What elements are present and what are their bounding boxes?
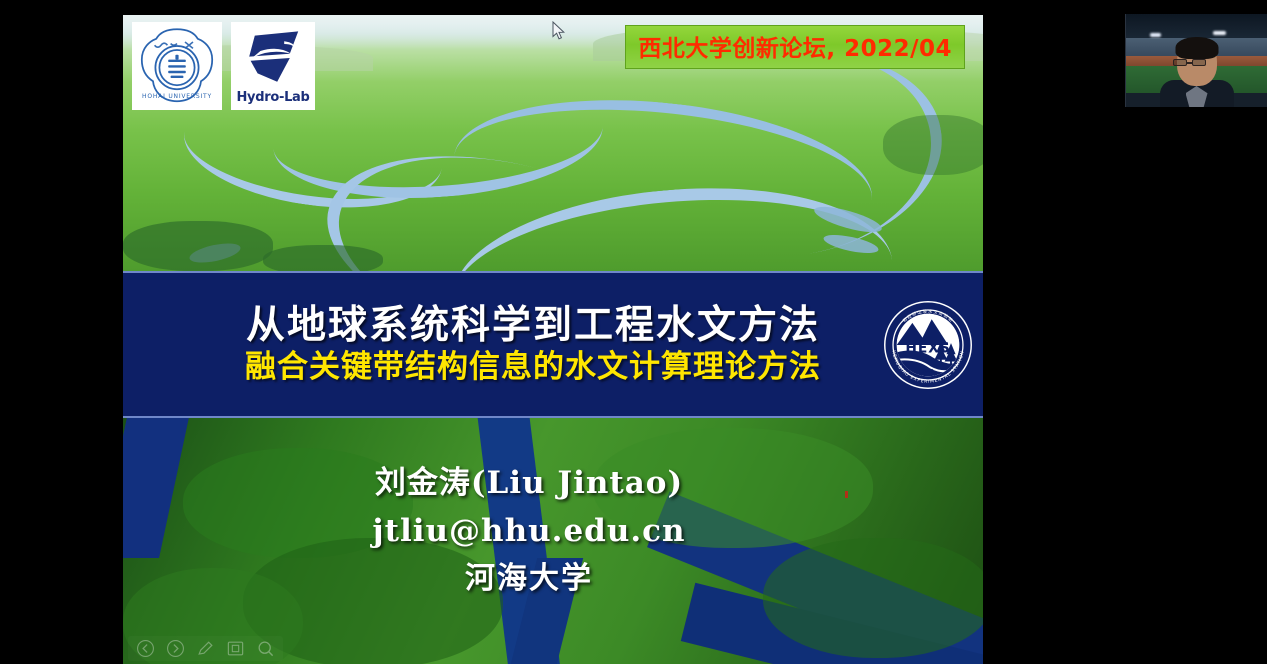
dark-vegetation-patch bbox=[263, 245, 383, 271]
slide-subtitle: 融合关键带结构信息的水文计算理论方法 bbox=[123, 350, 943, 386]
hydro-lab-caption: Hydro-Lab bbox=[236, 90, 309, 105]
bottom-photo-forest-river: 刘金涛(Liu Jintao) jtliu@hhu.edu.cn 河海大学 bbox=[123, 418, 983, 664]
presenter-glasses-bridge bbox=[1187, 62, 1192, 64]
presenter-glasses bbox=[1192, 59, 1206, 66]
fit-screen-icon[interactable] bbox=[226, 639, 245, 658]
chevron-left-icon[interactable] bbox=[136, 639, 155, 658]
stadium-floodlight bbox=[1213, 31, 1226, 35]
svg-text:2009: 2009 bbox=[922, 368, 934, 374]
screen-share-view: HOHAI UNIVERSITY Hydro-Lab 西北大学创新论坛, 202… bbox=[0, 0, 1267, 664]
logo-bar: HOHAI UNIVERSITY Hydro-Lab bbox=[132, 22, 315, 110]
dark-vegetation-patch bbox=[123, 221, 273, 271]
viewer-toolbar[interactable] bbox=[128, 636, 283, 661]
author-name: 刘金涛(Liu Jintao) bbox=[123, 460, 935, 507]
stadium-floodlight bbox=[1150, 33, 1161, 37]
event-banner: 西北大学创新论坛, 2022/04 bbox=[625, 25, 965, 69]
svg-text:HEXS: HEXS bbox=[905, 340, 950, 356]
hydro-lab-logo: Hydro-Lab bbox=[231, 22, 315, 110]
presenter-figure bbox=[1160, 40, 1234, 107]
chevron-right-icon[interactable] bbox=[166, 639, 185, 658]
magnifier-icon[interactable] bbox=[256, 639, 275, 658]
hexs-emblem: HEXS 2009 和睦桥山坡水文实验站 HEMUQIAO EXPERIMENT… bbox=[882, 299, 974, 391]
mouse-pointer bbox=[552, 21, 565, 40]
author-block: 刘金涛(Liu Jintao) jtliu@hhu.edu.cn 河海大学 bbox=[123, 460, 983, 603]
presentation-slide[interactable]: HOHAI UNIVERSITY Hydro-Lab 西北大学创新论坛, 202… bbox=[123, 15, 983, 664]
svg-text:HOHAI UNIVERSITY: HOHAI UNIVERSITY bbox=[142, 93, 212, 100]
title-band: 从地球系统科学到工程水文方法 融合关键带结构信息的水文计算理论方法 bbox=[123, 271, 983, 418]
presenter-video-thumbnail[interactable] bbox=[1125, 14, 1267, 107]
author-affiliation: 河海大学 bbox=[123, 556, 935, 603]
slide-title: 从地球系统科学到工程水文方法 bbox=[123, 304, 943, 348]
author-email: jtliu@hhu.edu.cn bbox=[123, 507, 935, 557]
pencil-icon[interactable] bbox=[196, 639, 215, 658]
hohai-university-logo: HOHAI UNIVERSITY bbox=[132, 22, 222, 110]
presenter-hair bbox=[1175, 37, 1218, 59]
presenter-glasses bbox=[1173, 59, 1187, 66]
dark-vegetation-patch bbox=[883, 115, 983, 175]
event-banner-text: 西北大学创新论坛, 2022/04 bbox=[638, 36, 952, 62]
